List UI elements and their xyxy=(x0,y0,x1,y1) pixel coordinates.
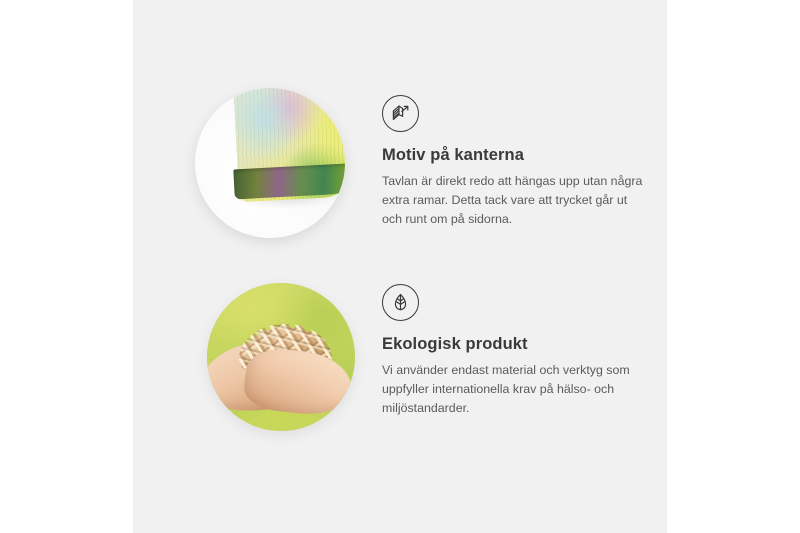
feature-description: Tavlan är direkt redo att hängas upp uta… xyxy=(382,172,644,230)
feature-row-canvas-edges: Motiv på kanterna Tavlan är direkt redo … xyxy=(133,75,667,250)
feature-title: Ekologisk produkt xyxy=(382,334,658,355)
feature-copy-canvas-edges: Motiv på kanterna Tavlan är direkt redo … xyxy=(382,95,658,229)
canvas-corner-photo xyxy=(195,88,345,238)
wood-chips-in-hands-photo xyxy=(207,283,355,431)
canvas-wrapped-edge-glyph xyxy=(389,102,412,125)
feature-title: Motiv på kanterna xyxy=(382,145,658,166)
leaf-glyph xyxy=(389,291,412,314)
leaf-icon xyxy=(382,284,419,321)
feature-copy-eco-product: Ekologisk produkt Vi använder endast mat… xyxy=(382,284,658,418)
feature-row-eco-product: Ekologisk produkt Vi använder endast mat… xyxy=(133,270,667,445)
canvas-wrapped-side xyxy=(233,163,345,200)
product-feature-banner: Motiv på kanterna Tavlan är direkt redo … xyxy=(0,0,800,533)
canvas-wrapped-edge-icon xyxy=(382,95,419,132)
feature-description: Vi använder endast material och verktyg … xyxy=(382,361,644,419)
